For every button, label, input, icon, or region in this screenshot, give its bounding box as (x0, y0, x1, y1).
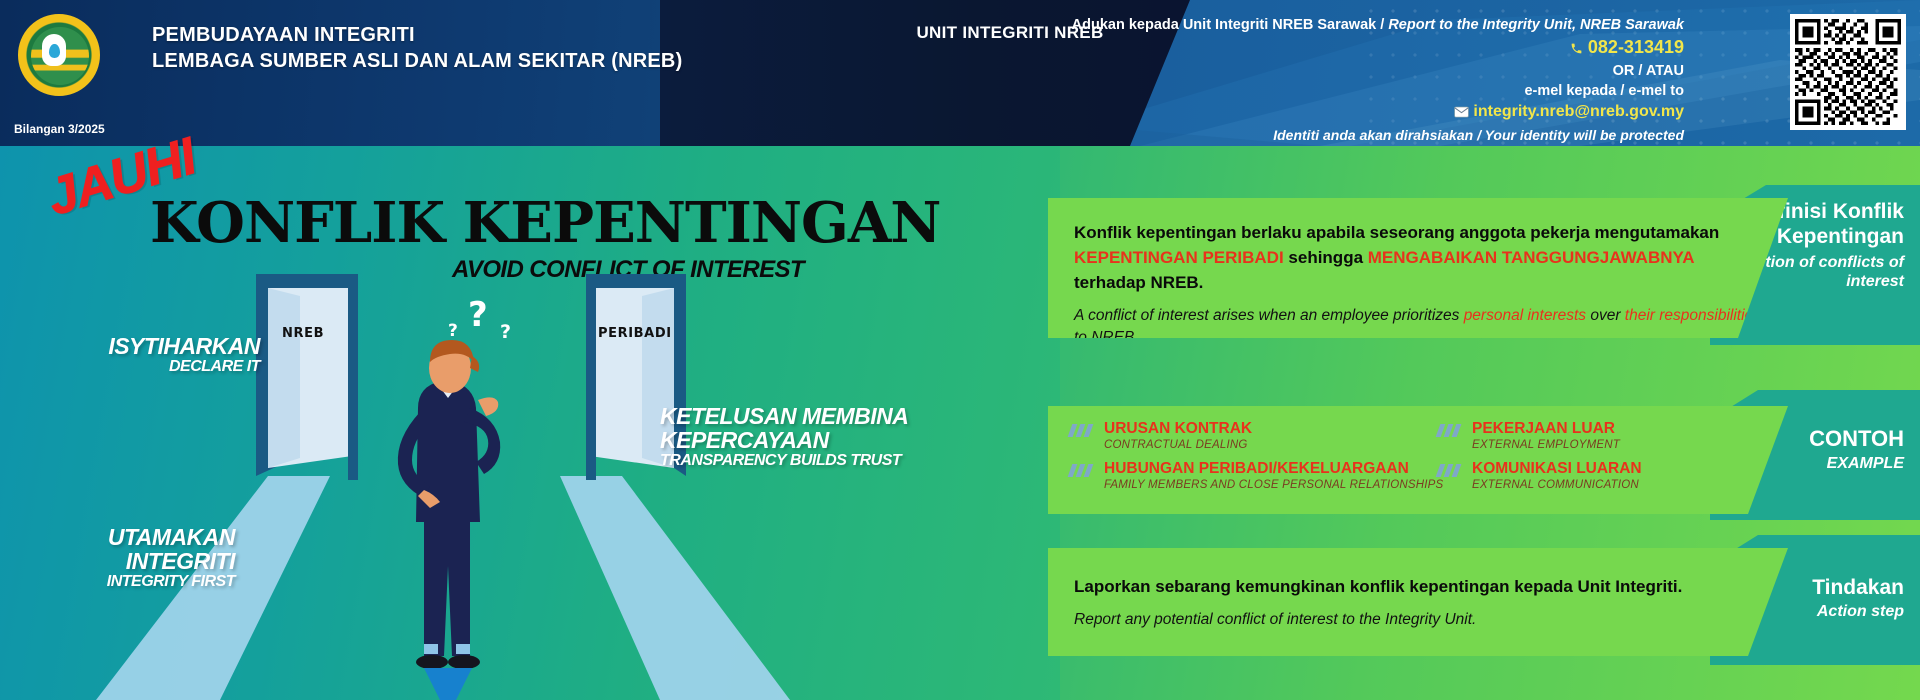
examples-column-1: URUSAN KONTRAK CONTRACTUAL DEALING HUBUN… (1070, 420, 1470, 500)
panel-examples: URUSAN KONTRAK CONTRACTUAL DEALING HUBUN… (1048, 406, 1788, 514)
panel-action-en: Report any potential conflict of interes… (1074, 609, 1762, 631)
caption-integrity-en: INTEGRITY FIRST (10, 573, 235, 591)
def-en-3: their responsibilities (1625, 307, 1761, 324)
header-title-line1: PEMBUDAYAAN INTEGRITI (152, 22, 682, 48)
def-bm-0: Konflik kepentingan berlaku apabila sese… (1074, 223, 1719, 242)
def-en-2: over (1586, 307, 1625, 324)
caption-declare-bm: ISYTIHARKAN (60, 334, 260, 358)
caption-transparency-bm: KETELUSAN MEMBINA KEPERCAYAAN (660, 404, 910, 452)
def-bm-2: sehingga (1284, 248, 1368, 267)
report-line: Adukan kepada Unit Integriti NREB Sarawa… (1064, 16, 1684, 35)
phone-number: 082-313419 (1588, 37, 1684, 57)
def-bm-3: MENGABAIKAN TANGGUNGJAWABNYA (1368, 248, 1694, 267)
def-bm-4: terhadap NREB. (1074, 273, 1203, 292)
door-label-left: NREB (282, 326, 324, 341)
example-subtitle: CONTRACTUAL DEALING (1104, 438, 1470, 453)
example-item: KOMUNIKASI LUARAN EXTERNAL COMMUNICATION (1438, 460, 1768, 493)
caption-transparency-en: TRANSPARENCY BUILDS TRUST (660, 452, 910, 470)
example-title: URUSAN KONTRAK (1104, 420, 1470, 438)
example-title: KOMUNIKASI LUARAN (1472, 460, 1768, 478)
example-subtitle: EXTERNAL EMPLOYMENT (1472, 438, 1768, 453)
examples-column-2: PEKERJAAN LUAR EXTERNAL EMPLOYMENT KOMUN… (1438, 420, 1768, 500)
def-en-0: A conflict of interest arises when an em… (1074, 307, 1464, 324)
phone-icon (1570, 37, 1583, 61)
nreb-logo-icon (18, 14, 100, 96)
report-separator: / (1380, 17, 1384, 33)
example-title: HUBUNGAN PERIBADI/KEKELUARGAAN (1104, 460, 1470, 478)
panel-action: Laporkan sebarang kemungkinan konflik ke… (1048, 548, 1788, 656)
stripes-icon (1438, 424, 1464, 437)
or-label: OR / ATAU (1064, 61, 1684, 81)
door-label-right: PERIBADI (598, 326, 672, 341)
stripes-icon (1438, 464, 1464, 477)
stripes-icon (1070, 424, 1096, 437)
example-item: URUSAN KONTRAK CONTRACTUAL DEALING (1070, 420, 1470, 453)
poster-canvas: PEMBUDAYAAN INTEGRITI LEMBAGA SUMBER ASL… (0, 0, 1920, 700)
svg-text:?: ? (500, 321, 511, 343)
panel-definition: Konflik kepentingan berlaku apabila sese… (1048, 198, 1788, 338)
caption-declare: ISYTIHARKAN DECLARE IT (60, 334, 260, 376)
caption-integrity-bm: UTAMAKAN INTEGRITI (10, 525, 235, 573)
example-item: PEKERJAAN LUAR EXTERNAL EMPLOYMENT (1438, 420, 1768, 453)
example-item: HUBUNGAN PERIBADI/KEKELUARGAAN FAMILY ME… (1070, 460, 1470, 493)
issue-number: Bilangan 3/2025 (14, 122, 105, 136)
panel-definition-bm: Konflik kepentingan berlaku apabila sese… (1074, 220, 1762, 295)
envelope-icon (1454, 103, 1469, 125)
example-subtitle: EXTERNAL COMMUNICATION (1472, 478, 1768, 493)
example-title: PEKERJAAN LUAR (1472, 420, 1768, 438)
caption-integrity: UTAMAKAN INTEGRITI INTEGRITY FIRST (10, 525, 235, 591)
email-label: e-mel kepada / e-mel to (1064, 81, 1684, 101)
report-line-bm: Adukan kepada Unit Integriti NREB Sarawa… (1072, 17, 1377, 33)
stripes-icon (1070, 464, 1096, 477)
phone-row[interactable]: 082-313419 (1064, 35, 1684, 61)
def-bm-1: KEPENTINGAN PERIBADI (1074, 248, 1284, 267)
def-en-1: personal interests (1464, 307, 1586, 324)
caption-declare-en: DECLARE IT (60, 358, 260, 376)
header-title-line2: LEMBAGA SUMBER ASLI DAN ALAM SEKITAR (NR… (152, 48, 682, 74)
email-address: integrity.nreb@nreb.gov.my (1473, 103, 1684, 120)
example-subtitle: FAMILY MEMBERS AND CLOSE PERSONAL RELATI… (1104, 478, 1470, 493)
panel-action-bm: Laporkan sebarang kemungkinan konflik ke… (1074, 574, 1762, 599)
qr-code-icon[interactable] (1790, 14, 1906, 130)
svg-text:?: ? (468, 295, 488, 335)
report-line-en: Report to the Integrity Unit, NREB Saraw… (1388, 17, 1684, 33)
svg-text:?: ? (448, 321, 458, 341)
header-title: PEMBUDAYAAN INTEGRITI LEMBAGA SUMBER ASL… (152, 22, 682, 74)
identity-note: Identiti anda akan dirahsiakan / Your id… (1064, 125, 1684, 145)
caption-transparency: KETELUSAN MEMBINA KEPERCAYAAN TRANSPAREN… (660, 404, 910, 470)
header-contact-block: Adukan kepada Unit Integriti NREB Sarawa… (1064, 16, 1684, 145)
page-header: PEMBUDAYAAN INTEGRITI LEMBAGA SUMBER ASL… (0, 0, 1920, 146)
email-row[interactable]: integrity.nreb@nreb.gov.my (1064, 101, 1684, 125)
